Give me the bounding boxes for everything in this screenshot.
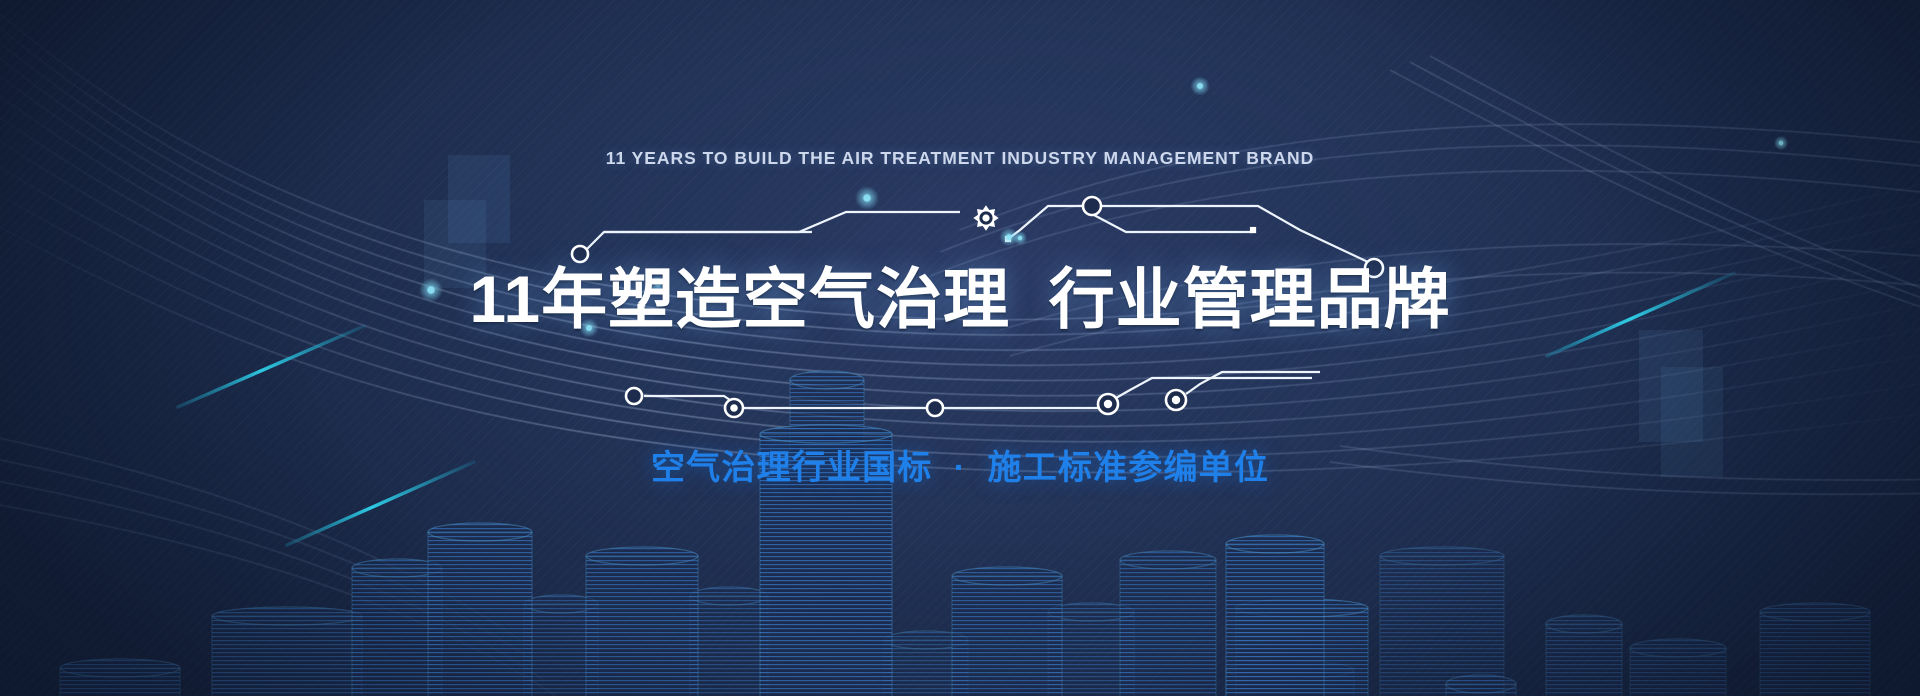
banner-eyebrow-text: 11 YEARS TO BUILD THE AIR TREATMENT INDU… bbox=[0, 148, 1920, 169]
glow-particle-core bbox=[1197, 83, 1203, 89]
banner-headline: 11年塑造空气治理 行业管理品牌 bbox=[0, 266, 1920, 332]
banner-subtitle: 空气治理行业国标 · 施工标准参编单位 bbox=[0, 440, 1920, 489]
glow-particle-core bbox=[863, 194, 871, 202]
glow-particle-core bbox=[1779, 141, 1784, 146]
particles-layer bbox=[0, 0, 1920, 696]
glow-particle-core bbox=[1006, 234, 1012, 240]
hero-banner: 11 YEARS TO BUILD THE AIR TREATMENT INDU… bbox=[0, 0, 1920, 696]
glow-particle-core bbox=[1018, 236, 1023, 241]
